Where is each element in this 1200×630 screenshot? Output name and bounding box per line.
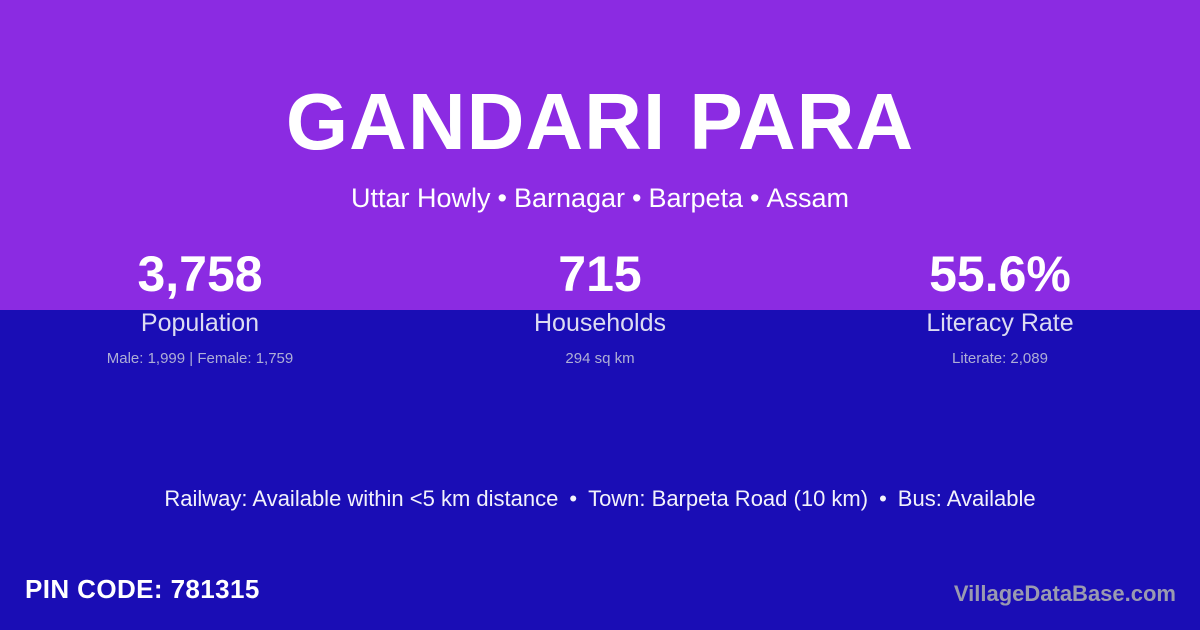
breadcrumb-item[interactable]: Uttar Howly — [351, 183, 491, 213]
stats-row: 3,758PopulationMale: 1,999 | Female: 1,7… — [0, 246, 1200, 369]
stat-sublabel: 294 sq km — [400, 350, 800, 369]
pin-code-label: PIN CODE: 781315 — [25, 574, 260, 605]
breadcrumb: Uttar Howly•Barnagar•Barpeta•Assam — [0, 182, 1200, 214]
stat-value: 3,758 — [0, 246, 400, 302]
stat-value: 715 — [400, 246, 800, 302]
stat-sublabel: Male: 1,999 | Female: 1,759 — [0, 350, 400, 369]
stat-block-population: 3,758PopulationMale: 1,999 | Female: 1,7… — [0, 246, 400, 369]
amenity-item: Railway: Available within <5 km distance — [164, 486, 558, 511]
amenity-separator: • — [558, 486, 588, 512]
breadcrumb-item[interactable]: Assam — [767, 183, 850, 213]
breadcrumb-separator: • — [490, 182, 513, 214]
breadcrumb-separator: • — [625, 182, 648, 214]
stat-value: 55.6% — [800, 246, 1200, 302]
stat-label: Households — [400, 308, 800, 339]
amenity-separator: • — [868, 486, 898, 512]
stat-label: Population — [0, 308, 400, 339]
stat-block-households: 715Households294 sq km — [400, 246, 800, 369]
stat-label: Literacy Rate — [800, 308, 1200, 339]
breadcrumb-item[interactable]: Barnagar — [514, 183, 625, 213]
stat-block-literacy-rate: 55.6%Literacy RateLiterate: 2,089 — [800, 246, 1200, 369]
stat-sublabel: Literate: 2,089 — [800, 350, 1200, 369]
amenities-row: Railway: Available within <5 km distance… — [0, 486, 1200, 512]
amenity-item: Bus: Available — [898, 486, 1036, 511]
amenity-item: Town: Barpeta Road (10 km) — [588, 486, 868, 511]
site-watermark: VillageDataBase.com — [954, 581, 1176, 607]
breadcrumb-separator: • — [743, 182, 766, 214]
village-info-card: GANDARI PARA Uttar Howly•Barnagar•Barpet… — [0, 0, 1200, 630]
page-title: GANDARI PARA — [0, 82, 1200, 162]
breadcrumb-item[interactable]: Barpeta — [648, 183, 743, 213]
